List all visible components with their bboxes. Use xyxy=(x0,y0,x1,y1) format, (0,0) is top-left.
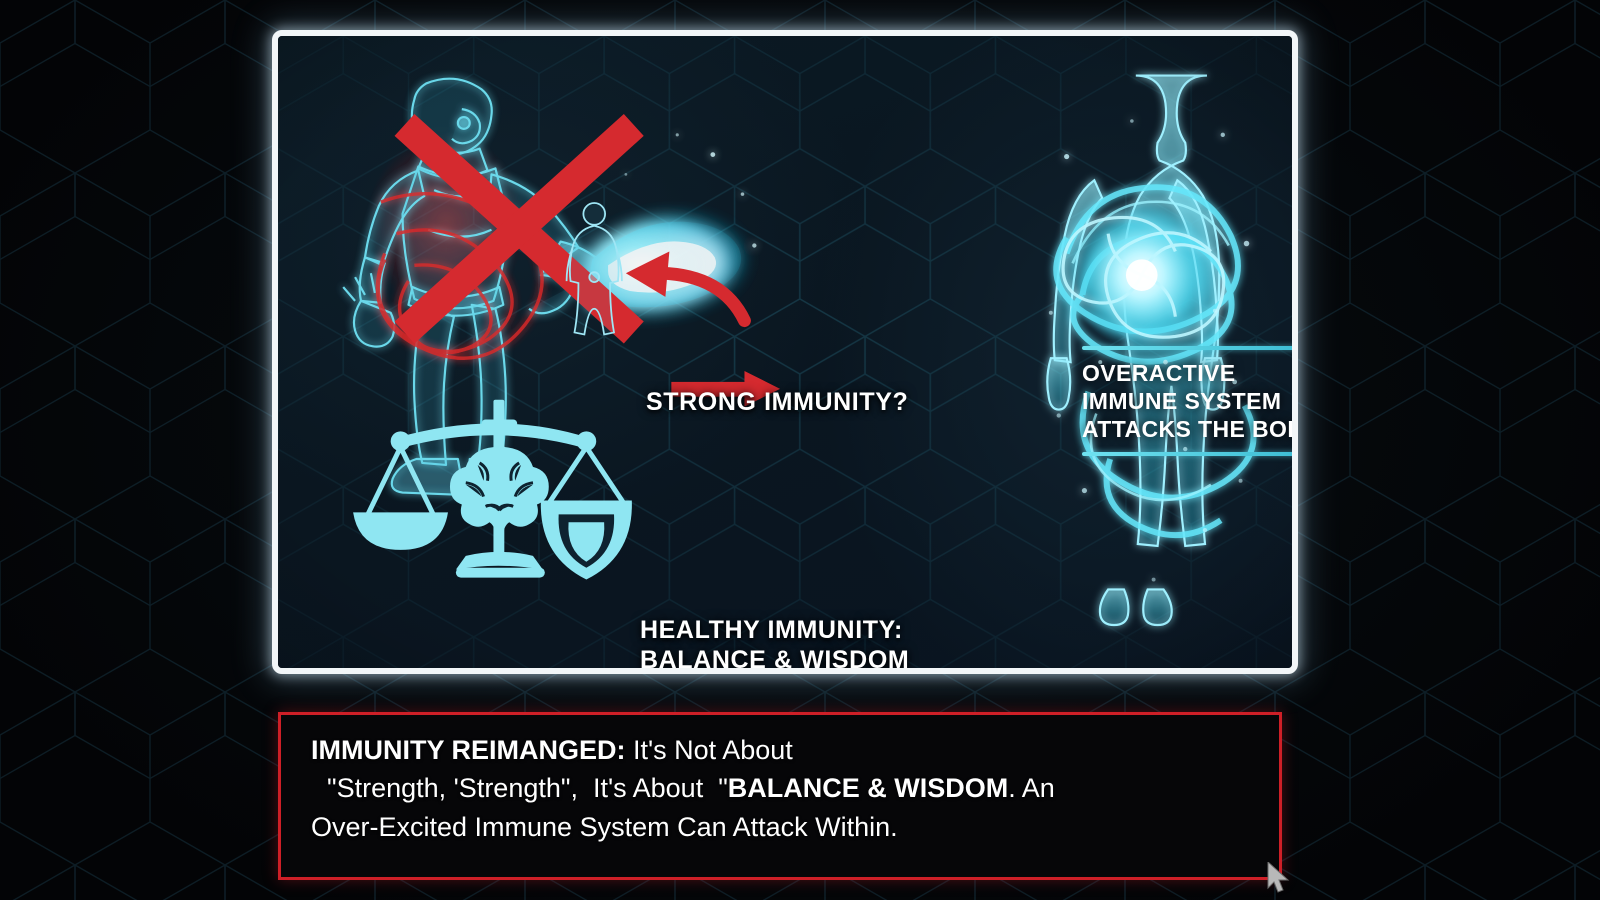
caption-part1: It's Not About xyxy=(626,735,793,765)
main-infographic-panel: STRONG IMMUNITY? HEALTHY IMMUNITY:BALANC… xyxy=(272,30,1298,674)
brain-icon xyxy=(450,446,549,554)
healthy-immunity-line1: HEALTHY IMMUNITY: xyxy=(640,616,903,644)
caption-box: IMMUNITY REIMANGED: It's Not About"Stren… xyxy=(278,712,1282,880)
caption-text: IMMUNITY REIMANGED: It's Not About"Stren… xyxy=(311,731,1253,846)
callout-rule-top xyxy=(1082,346,1298,350)
caption-headline: IMMUNITY REIMANGED: xyxy=(311,735,626,765)
callout-line1: OVERACTIVE xyxy=(1082,360,1236,386)
healthy-immunity-label: HEALTHY IMMUNITY:BALANCE & WISDOM xyxy=(640,616,909,674)
caption-emphasis: BALANCE & WISDOM xyxy=(728,773,1008,803)
healthy-immunity-line2: BALANCE & WISDOM xyxy=(640,646,909,674)
callout-rule-bottom xyxy=(1082,452,1298,456)
caption-part2: "Strength, 'Strength", It's About " xyxy=(327,773,728,803)
overactive-callout: OVERACTIVEIMMUNE SYSTEMATTACKS THE BODY xyxy=(1082,346,1298,456)
strong-immunity-label: STRONG IMMUNITY? xyxy=(646,388,908,418)
callout-line2: IMMUNE SYSTEM xyxy=(1082,388,1281,414)
overactive-callout-text: OVERACTIVEIMMUNE SYSTEMATTACKS THE BODY xyxy=(1082,359,1298,443)
caption-part4: Over-Excited Immune System Can Attack Wi… xyxy=(311,812,898,842)
mouse-pointer-cursor-icon xyxy=(1266,862,1292,896)
callout-line3: ATTACKS THE BODY xyxy=(1082,416,1298,442)
caption-part3: . An xyxy=(1008,773,1055,803)
